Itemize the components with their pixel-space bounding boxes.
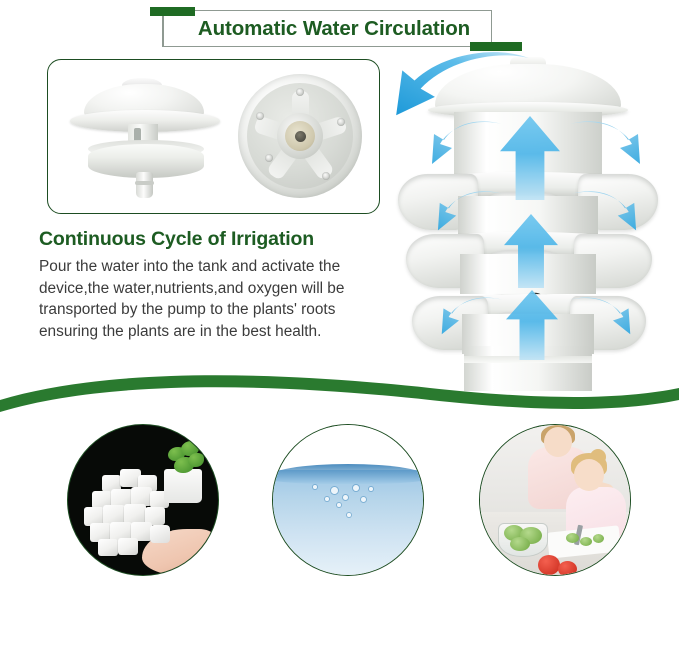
sponge-cube	[124, 504, 146, 524]
pump-nozzle-ring	[135, 181, 154, 185]
irrigation-section-body: Pour the water into the tank and activat…	[39, 256, 381, 342]
pump-face-screw	[256, 112, 264, 120]
water-bubble	[337, 503, 341, 507]
chopped-greens	[580, 537, 592, 546]
irrigation-section-heading: Continuous Cycle of Irrigation	[39, 228, 314, 251]
water-surface-line	[272, 464, 424, 484]
sponge-cube	[98, 539, 118, 556]
page-title: Automatic Water Circulation	[174, 13, 494, 44]
water-bubble	[361, 497, 366, 502]
body-line: Pour the water into the tank and activat…	[39, 256, 381, 278]
hydroponic-tower-illustration	[392, 46, 679, 391]
pump-face-screw	[322, 172, 330, 180]
outflow-arrow-right-tier-1	[568, 120, 642, 168]
tomato	[538, 555, 560, 575]
infographic-page: Automatic Water Circulation	[0, 0, 679, 648]
product-photo-box	[47, 59, 380, 214]
water-bubble	[347, 513, 351, 517]
tomato	[558, 561, 577, 576]
outflow-arrow-right-tier-2	[570, 190, 638, 234]
pump-nozzle	[136, 172, 153, 198]
pump-face-screw	[337, 118, 345, 126]
water-tank-photo	[272, 424, 424, 576]
water-bubble	[325, 497, 329, 501]
water-bubble	[313, 485, 317, 489]
outflow-arrow-left-tier-1	[430, 120, 504, 168]
water-bubble	[331, 487, 338, 494]
chopped-greens	[593, 534, 604, 543]
plant-leaf	[188, 453, 204, 467]
outflow-arrow-left-tier-2	[436, 190, 504, 234]
pump-bottom-view-image	[238, 74, 362, 198]
outflow-arrow-right-tier-3	[568, 296, 632, 338]
pump-side-view-image	[70, 78, 230, 200]
family-harvest-photo	[479, 424, 631, 576]
water-bubble	[343, 495, 348, 500]
body-line: device,the water,nutrients,and oxygen wi…	[39, 278, 381, 300]
chopped-greens	[566, 533, 579, 543]
sponge-cubes-photo	[67, 424, 219, 576]
outflow-arrow-left-tier-3	[440, 296, 504, 338]
water-body	[273, 470, 423, 575]
pump-face-hub-hole	[295, 131, 306, 142]
lettuce-in-bowl	[510, 537, 530, 551]
water-bubble	[369, 487, 373, 491]
body-line: ensuring the plants are in the best heal…	[39, 321, 381, 343]
child-head	[574, 459, 604, 491]
seedling-pot	[164, 469, 202, 503]
section-divider-wave	[0, 366, 679, 428]
mother-head	[544, 427, 572, 457]
body-line: transported by the pump to the plants' r…	[39, 299, 381, 321]
water-bubble	[353, 485, 359, 491]
sponge-cube-in-hand	[150, 525, 170, 543]
pump-face-screw	[296, 88, 304, 96]
sponge-cube	[118, 538, 138, 555]
pump-face-screw	[265, 154, 273, 162]
